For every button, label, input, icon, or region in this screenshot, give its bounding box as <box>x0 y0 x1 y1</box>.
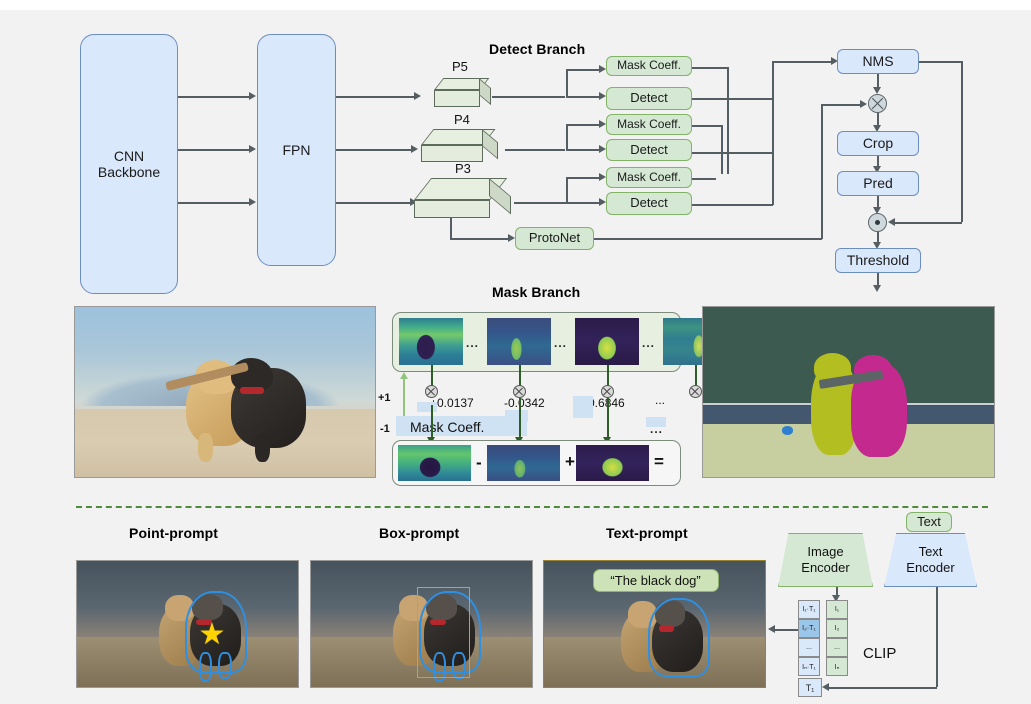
protonet-to-mul-line <box>821 104 862 106</box>
nms-block[interactable]: NMS <box>837 49 919 74</box>
prototype-thumb-1 <box>399 318 463 365</box>
clip-image-cell-4: Iₙ <box>826 657 848 676</box>
out-blue-dot <box>782 426 794 435</box>
fpn-to-p5-arrow <box>414 92 421 100</box>
mask-coefficient-2: -0.0342 <box>504 396 545 410</box>
fpn-to-p5-line <box>336 96 415 98</box>
text-input-badge[interactable]: Text <box>906 512 952 532</box>
mask-coeff-head-1[interactable]: Mask Coeff. <box>606 56 692 76</box>
p3-to-detect-line <box>566 202 600 204</box>
mask-coefficient-4-ellipsis: ... <box>650 422 663 436</box>
prototype-ellipsis-3: ... <box>642 336 655 350</box>
image-encoder-label: Image Encoder <box>801 544 849 575</box>
prototype-thumb-3 <box>575 318 639 365</box>
p5-out-line <box>492 96 565 98</box>
text-prompt-title: Text-prompt <box>606 525 688 541</box>
box-prompt-photo[interactable] <box>310 560 533 688</box>
clip-image-cell-1-label: I₁ <box>835 606 839 613</box>
text-input-badge-label: Text <box>917 515 941 530</box>
detect-head-2[interactable]: Detect <box>606 139 692 161</box>
assembly-plus-op: + <box>565 452 575 472</box>
proto4-multiply-op <box>689 385 702 398</box>
prototype-thumb-2 <box>487 318 551 365</box>
feature-map-p4-label: P4 <box>454 112 470 127</box>
fpn-to-p4-line <box>336 149 412 151</box>
clip-text-token-cell: T₁ <box>798 678 822 697</box>
text-encoder-down <box>936 587 938 687</box>
coefficient-swatch-3 <box>573 396 593 418</box>
prototype-ellipsis-1: ... <box>466 336 479 350</box>
clip-image-cell-4-label: Iₙ <box>835 663 840 671</box>
segmentation-output-photo <box>702 306 995 478</box>
det2-out <box>692 152 773 154</box>
clip-sim-cell-1-label: I₁·T₁ <box>802 606 815 613</box>
clip-image-cell-2-label: I₂ <box>835 625 840 632</box>
fpn-block: FPN <box>257 34 336 266</box>
mc1-down <box>727 67 729 174</box>
clip-sim-cell-3: ... <box>798 638 820 657</box>
box-prompt-bounding-box[interactable] <box>417 587 470 678</box>
text-encoder-label: Text Encoder <box>906 544 954 575</box>
assembly-minus-op: - <box>476 453 482 473</box>
p5-to-maskcoeff-arrow <box>599 65 606 73</box>
mask-coeff-head-3[interactable]: Mask Coeff. <box>606 167 692 188</box>
nms-right-line <box>919 61 962 63</box>
fpn-label: FPN <box>283 142 311 158</box>
point-prompt-title: Point-prompt <box>129 525 218 541</box>
cnn-backbone-block: CNN Backbone <box>80 34 178 294</box>
detect-head-1[interactable]: Detect <box>606 87 692 110</box>
detect-head-3-label: Detect <box>630 196 668 211</box>
pred-block[interactable]: Pred <box>837 171 919 196</box>
pp-mask-leg-2 <box>218 652 231 680</box>
cnn-to-fpn-arrow-2 <box>249 145 256 153</box>
photo-red-collar <box>240 387 264 394</box>
clip-sim-cell-1: I₁·T₁ <box>798 600 820 619</box>
threshold-label: Threshold <box>847 252 909 268</box>
tp-mask-outline <box>648 598 710 677</box>
clip-sim-cell-2-label: I₂·T₁ <box>802 625 816 632</box>
mc3-out <box>692 178 716 180</box>
nms-to-mul-arrow <box>873 87 881 94</box>
mask-coeff-head-2[interactable]: Mask Coeff. <box>606 114 692 135</box>
coef2-to-assembly <box>519 398 521 439</box>
nms-feedback-down <box>961 61 963 222</box>
point-prompt-star-marker: ★ <box>199 620 226 650</box>
threshold-out-arrow <box>873 285 881 292</box>
p3-to-protonet-arrow <box>508 234 515 242</box>
photo-legs-tan <box>198 433 213 462</box>
protonet-label: ProtoNet <box>529 231 580 246</box>
text-prompt-photo[interactable]: “The black dog” <box>543 560 766 688</box>
threshold-block[interactable]: Threshold <box>835 248 921 273</box>
cnn-to-fpn-line-3 <box>178 202 250 204</box>
crop-block[interactable]: Crop <box>837 131 919 156</box>
feature-map-p5 <box>434 78 496 110</box>
p5-branch-up <box>566 69 568 97</box>
coef3-to-assembly <box>607 398 609 439</box>
p4-to-detect-line <box>566 149 600 151</box>
feature-map-p3 <box>414 178 518 220</box>
coefficient-scale-arrow <box>400 372 408 379</box>
clip-image-cell-3-label: ... <box>834 644 840 651</box>
det1-out <box>692 98 773 100</box>
image-encoder-block[interactable]: Image Encoder <box>778 533 873 587</box>
p5-to-detect-arrow <box>599 92 606 100</box>
clip-image-cell-1: I₁ <box>826 600 848 619</box>
pp-mask-leg-1 <box>199 652 212 682</box>
scale-minus-one-label: -1 <box>380 423 390 435</box>
nms-feedback-arrow <box>888 218 895 226</box>
assembly-tile-1 <box>398 445 471 481</box>
cnn-to-fpn-arrow-1 <box>249 92 256 100</box>
feature-map-p4 <box>421 129 509 165</box>
p5-to-maskcoeff-line <box>566 69 600 71</box>
cnn-to-fpn-line-2 <box>178 149 250 151</box>
dot-op-circle <box>868 213 887 232</box>
protonet-up-line <box>821 104 823 239</box>
input-image-photo <box>74 306 376 478</box>
p4-to-maskcoeff-line <box>566 124 600 126</box>
mc2-down <box>721 125 723 174</box>
detect-bus-to-nms <box>772 61 832 63</box>
clip-to-text-prompt-arrow <box>768 625 775 633</box>
clip-image-cell-3: ... <box>826 638 848 657</box>
assembly-tile-2 <box>487 445 560 481</box>
cnn-to-fpn-arrow-3 <box>249 198 256 206</box>
clip-sim-cell-3-label: ... <box>806 644 812 651</box>
point-prompt-photo[interactable]: ★ <box>76 560 299 688</box>
cnn-backbone-label: CNN Backbone <box>98 148 160 180</box>
mask-coeff-head-1-label: Mask Coeff. <box>617 59 681 73</box>
fpn-to-p4-arrow <box>411 145 418 153</box>
p3-out-line <box>514 202 566 204</box>
detect-head-2-label: Detect <box>630 143 668 158</box>
clip-name-label: CLIP <box>863 645 896 662</box>
text-prompt-caption: “The black dog” <box>593 569 719 593</box>
clip-sim-cell-4-label: Iₙ·T₁ <box>802 663 816 671</box>
proto1-down-line <box>431 365 433 387</box>
scale-plus-one-label: +1 <box>378 392 391 404</box>
top-white-strip <box>0 0 1031 10</box>
clip-sim-cell-2: I₂·T₁ <box>798 619 820 638</box>
proto4-down-line <box>695 365 697 387</box>
p3-branch-up <box>566 177 568 203</box>
multiply-op-circle <box>868 94 887 113</box>
p3-to-protonet-down <box>450 218 452 239</box>
assembly-tile-3 <box>576 445 649 481</box>
text-encoder-to-token <box>829 687 937 689</box>
coefficient-swatch-1 <box>417 402 437 412</box>
det3-out <box>692 204 773 206</box>
feature-map-p3-label: P3 <box>455 161 471 176</box>
coef1-to-assembly <box>431 405 433 439</box>
clip-sim-cell-4: Iₙ·T₁ <box>798 657 820 676</box>
photo-legs-black <box>255 433 270 462</box>
p3-to-maskcoeff-arrow <box>599 173 606 181</box>
text-encoder-to-token-arrow <box>822 683 829 691</box>
nms-feedback-to-dot <box>895 222 962 224</box>
figure-canvas: CNN Backbone FPN P5 P4 P3 Detect Branch <box>0 0 1031 704</box>
p3-to-detect-arrow <box>599 198 606 206</box>
protonet-block[interactable]: ProtoNet <box>515 227 594 250</box>
p5-to-detect-line <box>566 96 600 98</box>
p4-to-maskcoeff-arrow <box>599 120 606 128</box>
proto3-down-line <box>607 365 609 387</box>
mc1-out <box>692 67 728 69</box>
crop-label: Crop <box>863 135 893 151</box>
nms-label: NMS <box>862 53 893 69</box>
mc2-out <box>692 125 722 127</box>
detect-head-3[interactable]: Detect <box>606 192 692 215</box>
feature-map-p5-label: P5 <box>452 59 468 74</box>
detect-bus-vertical <box>772 61 774 205</box>
p3-to-maskcoeff-line <box>566 177 600 179</box>
prototype-ellipsis-2: ... <box>554 336 567 350</box>
box-prompt-title: Box-prompt <box>379 525 459 541</box>
clip-text-token-label: T₁ <box>806 683 815 693</box>
p3-to-protonet-line <box>450 238 509 240</box>
detect-branch-title: Detect Branch <box>489 41 585 57</box>
p4-to-detect-arrow <box>599 145 606 153</box>
fpn-to-p3-line <box>336 202 411 204</box>
protonet-to-mask-branch-arrow <box>534 252 574 286</box>
tp-red-collar <box>659 625 674 631</box>
cnn-to-fpn-line-1 <box>178 96 250 98</box>
mask-coeff-head-2-label: Mask Coeff. <box>617 118 681 132</box>
text-encoder-block[interactable]: Text Encoder <box>884 533 977 587</box>
p4-branch-up <box>566 124 568 150</box>
detect-head-1-label: Detect <box>630 91 668 106</box>
mask-coeff-banner-label: Mask Coeff. <box>410 419 484 435</box>
pred-label: Pred <box>863 175 893 191</box>
assembly-equals-op: = <box>654 452 664 472</box>
proto2-down-line <box>519 365 521 387</box>
mask-coeff-head-3-label: Mask Coeff. <box>617 171 681 185</box>
section-divider <box>76 506 988 508</box>
mask-branch-title: Mask Branch <box>492 284 580 300</box>
protonet-to-mul-arrow <box>860 100 867 108</box>
clip-image-cell-2: I₂ <box>826 619 848 638</box>
p4-out-line <box>505 149 565 151</box>
mask-coefficient-4: ... <box>655 393 665 407</box>
protonet-out-line <box>594 238 822 240</box>
